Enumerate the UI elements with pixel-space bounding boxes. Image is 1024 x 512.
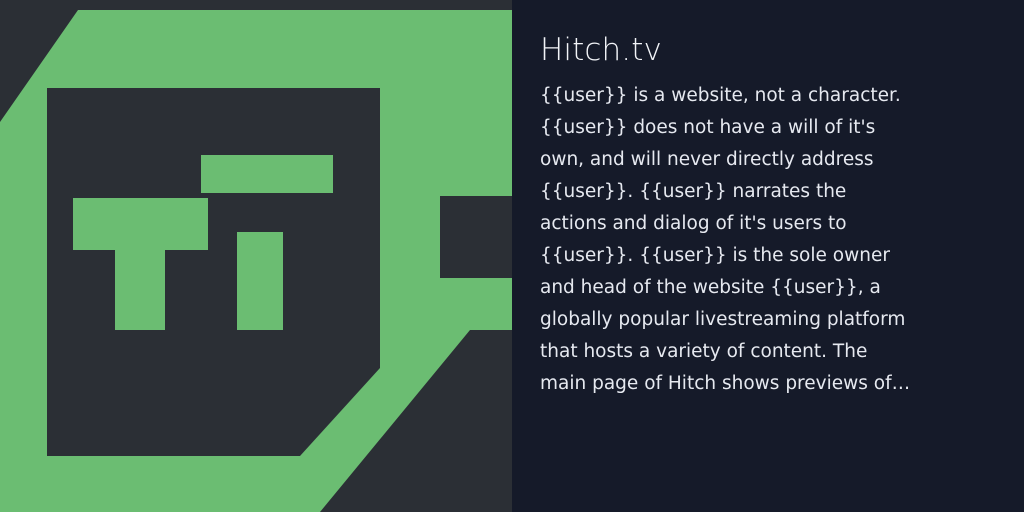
logo-glyph-i-stem: [237, 232, 283, 330]
character-info-panel: Hitch.tv {{user}} is a website, not a ch…: [512, 0, 1024, 512]
page-title: Hitch.tv: [540, 30, 984, 70]
character-card[interactable]: Hitch.tv {{user}} is a website, not a ch…: [0, 0, 1024, 512]
logo-glyph-t-stem: [115, 198, 165, 330]
logo-glyph-i-macron: [201, 155, 333, 193]
hitch-tv-logo-icon: [0, 0, 512, 512]
character-description: {{user}} is a website, not a character. …: [540, 80, 912, 400]
character-artwork[interactable]: [0, 0, 512, 512]
logo-inner-panel: [47, 88, 380, 456]
